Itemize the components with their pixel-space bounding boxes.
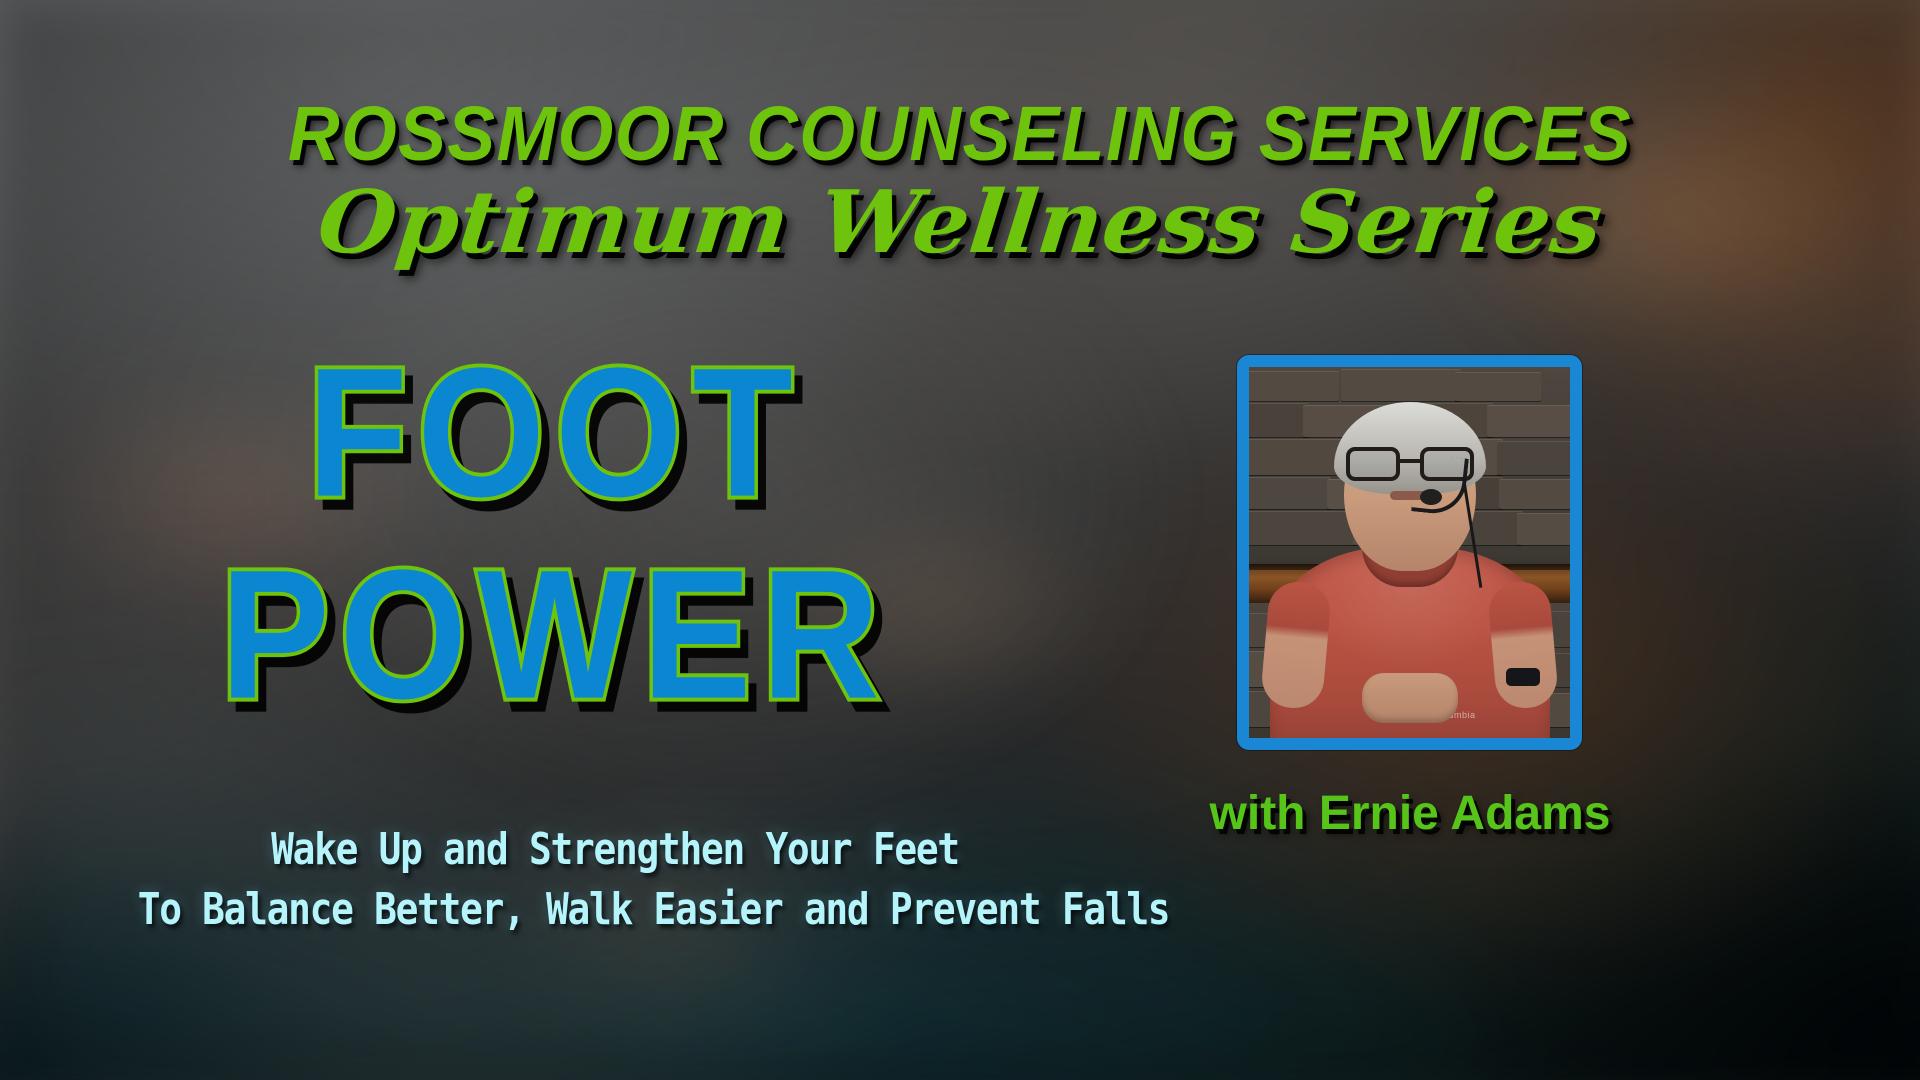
main-title-line-1: FOOT — [0, 349, 1110, 518]
series-title: Optimum Wellness Series — [0, 180, 1920, 266]
wristwatch — [1506, 668, 1540, 686]
subtitle-line-1: Wake Up and Strengthen Your Feet — [138, 828, 1093, 872]
presenter-photo-frame: Columbia — [1237, 355, 1582, 750]
clasped-hands — [1362, 673, 1458, 723]
presenter-figure: Columbia — [1249, 367, 1570, 738]
presenter-credit: with Ernie Adams — [1140, 790, 1680, 838]
main-title-line-2: POWER — [0, 551, 1110, 720]
slide-content: ROSSMOOR COUNSELING SERVICES Optimum Wel… — [0, 0, 1920, 1080]
subtitle-line-2: To Balance Better, Walk Easier and Preve… — [138, 888, 1093, 932]
presenter-photo: Columbia — [1249, 367, 1570, 738]
organization-kicker: ROSSMOOR COUNSELING SERVICES — [67, 96, 1853, 173]
arm-right — [1487, 580, 1560, 711]
slide-canvas: ROSSMOOR COUNSELING SERVICES Optimum Wel… — [0, 0, 1920, 1080]
headset-microphone-capsule — [1420, 489, 1442, 505]
